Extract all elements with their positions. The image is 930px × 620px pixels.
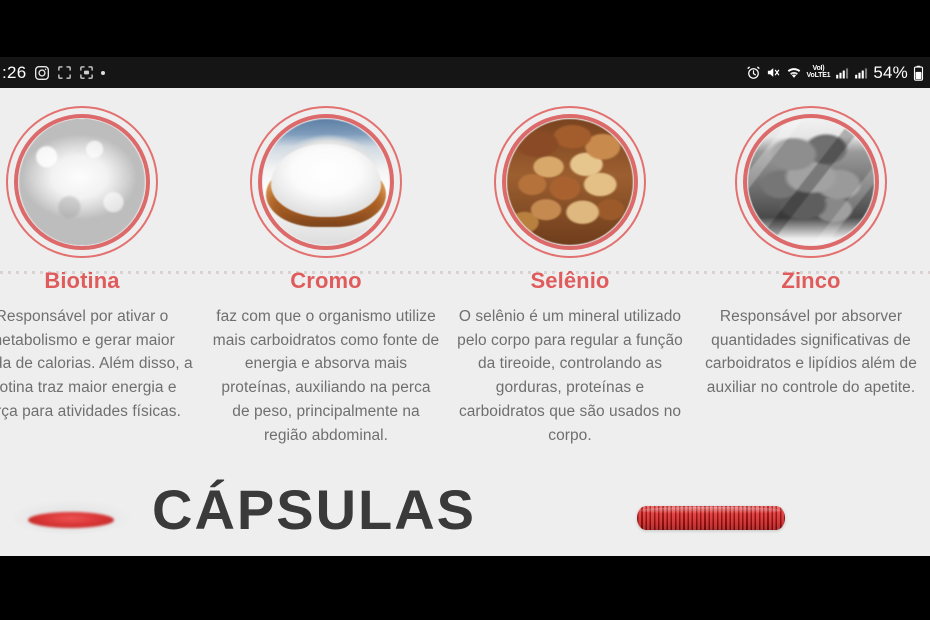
- signal-2-icon: [854, 66, 868, 80]
- screen-record-icon: [79, 65, 94, 80]
- vibrate-mute-icon: [766, 65, 781, 80]
- ingredient-card-cromo[interactable]: Cromo faz com que o organismo utilize ma…: [212, 106, 440, 447]
- volte-label: VoLTE1: [807, 73, 831, 79]
- card-body: O selênio é um mineral utilizado pelo co…: [456, 305, 684, 447]
- battery-icon: [913, 65, 924, 81]
- card-body: Responsável por absorver quantidades sig…: [697, 305, 925, 400]
- dot-indicator-icon: [101, 71, 105, 75]
- bottom-section: CÁPSULAS: [0, 468, 930, 556]
- zinc-metal-chunks-photo: [748, 119, 874, 245]
- alarm-icon: [746, 65, 761, 80]
- status-bar-left: :26: [6, 63, 105, 83]
- wifi-icon: [786, 65, 802, 81]
- status-bar-clock: :26: [2, 63, 27, 83]
- red-ribbed-bottle-cap: [637, 506, 785, 530]
- card-body: faz com que o organismo utilize mais car…: [212, 305, 440, 447]
- signal-1-icon: [835, 66, 849, 80]
- chromium-salt-wooden-bowl-photo: [263, 119, 389, 245]
- capsulas-heading: CÁPSULAS: [152, 482, 476, 538]
- letterbox-bottom: [0, 556, 930, 620]
- volte-icon: VoI) VoLTE1: [807, 66, 831, 79]
- card-body: Responsável por ativar o metabolismo e g…: [0, 305, 196, 424]
- selenium-mixed-nuts-photo: [507, 119, 633, 245]
- card-title: Biotina: [44, 270, 119, 292]
- circle-frame: [494, 106, 646, 258]
- letterbox-top: [0, 0, 930, 57]
- circle-frame: [735, 106, 887, 258]
- page-content: Biotina Responsável por ativar o metabol…: [0, 88, 930, 556]
- instagram-icon: [34, 65, 50, 81]
- card-title: Selênio: [531, 270, 610, 292]
- ingredient-card-zinco[interactable]: Zinco Responsável por absorver quantidad…: [697, 106, 925, 400]
- ingredient-card-biotina[interactable]: Biotina Responsável por ativar o metabol…: [0, 106, 196, 424]
- ingredient-card-selenio[interactable]: Selênio O selênio é um mineral utilizado…: [456, 106, 684, 447]
- status-bar-right: VoI) VoLTE1 54%: [746, 63, 924, 83]
- circle-frame: [250, 106, 402, 258]
- screenshot-icon: [57, 65, 72, 80]
- card-title: Zinco: [781, 270, 840, 292]
- red-bottle-top-ellipse: [28, 512, 114, 528]
- card-title: Cromo: [290, 270, 361, 292]
- status-bar: :26: [0, 57, 930, 88]
- battery-percent-label: 54%: [873, 63, 908, 83]
- biotin-white-powder-photo: [19, 119, 145, 245]
- circle-frame: [6, 106, 158, 258]
